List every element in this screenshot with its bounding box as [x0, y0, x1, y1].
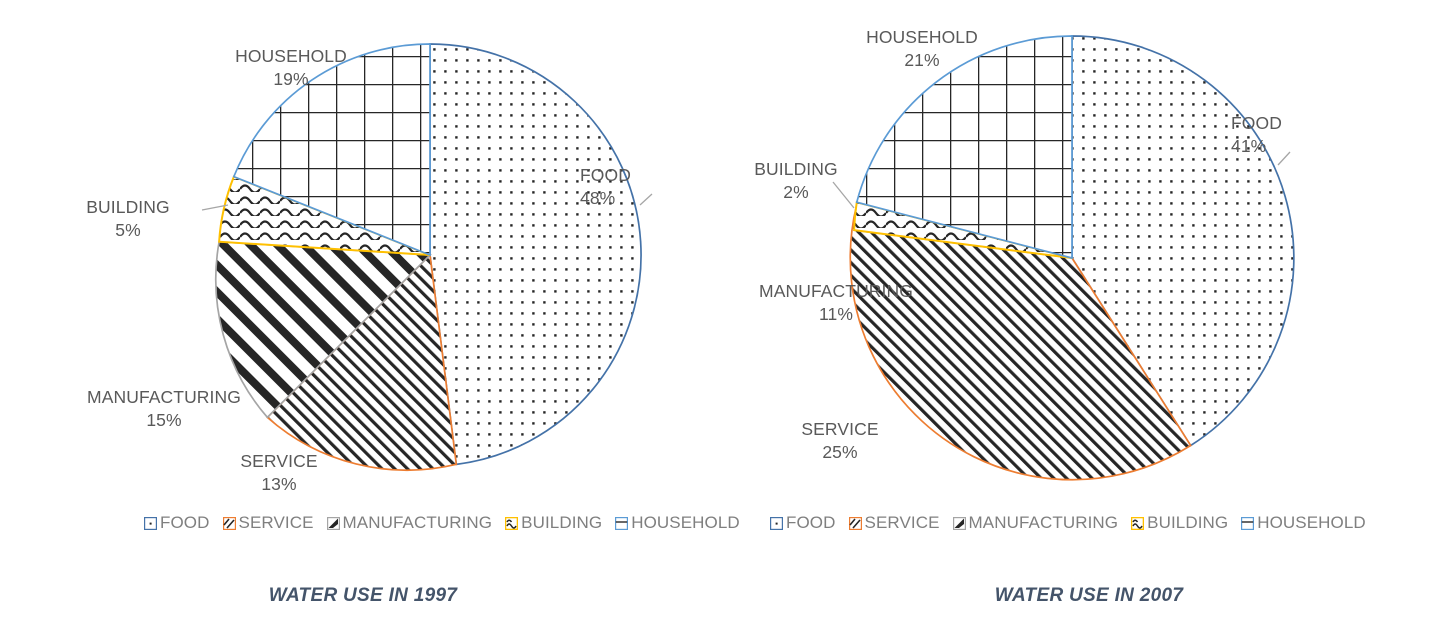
data-label-household: HOUSEHOLD 21% — [802, 26, 1042, 72]
legend-2007: FOOD SERVICE MANUFACTURING — [770, 513, 1366, 533]
legend-item-manufacturing[interactable]: MANUFACTURING — [327, 513, 493, 533]
data-label-household-name: HOUSEHOLD — [235, 46, 347, 66]
legend-label-service: SERVICE — [239, 513, 314, 533]
legend-item-food[interactable]: FOOD — [144, 513, 210, 533]
data-label-food-name: FOOD — [580, 165, 631, 185]
data-label-building: BUILDING 2% — [716, 158, 876, 204]
data-label-household: HOUSEHOLD 19% — [176, 45, 406, 91]
data-label-household-name: HOUSEHOLD — [866, 27, 978, 47]
data-label-manufacturing-name: MANUFACTURING — [759, 281, 913, 301]
wide-stripes-swatch-icon — [953, 517, 966, 530]
fine-stripes-swatch-icon — [849, 517, 862, 530]
data-label-manufacturing: MANUFACTURING 11% — [726, 280, 946, 326]
legend-label-household: HOUSEHOLD — [631, 513, 740, 533]
legend-item-manufacturing[interactable]: MANUFACTURING — [953, 513, 1119, 533]
legend-item-building[interactable]: BUILDING — [505, 513, 602, 533]
legend-label-food: FOOD — [160, 513, 210, 533]
wavy-swatch-icon — [1131, 517, 1144, 530]
data-label-food-pct: 41% — [1231, 135, 1401, 158]
legend-1997: FOOD SERVICE MANUFACTURING — [144, 513, 740, 533]
data-label-household-pct: 21% — [802, 49, 1042, 72]
data-label-building-pct: 5% — [48, 219, 208, 242]
legend-label-service: SERVICE — [865, 513, 940, 533]
data-label-building-name: BUILDING — [86, 197, 169, 217]
legend-item-service[interactable]: SERVICE — [223, 513, 314, 533]
data-label-building-pct: 2% — [716, 181, 876, 204]
chart-title-1997: WATER USE IN 1997 — [0, 585, 726, 607]
data-label-household-pct: 19% — [176, 68, 406, 91]
legend-item-household[interactable]: HOUSEHOLD — [615, 513, 740, 533]
legend-label-building: BUILDING — [1147, 513, 1228, 533]
legend-label-household: HOUSEHOLD — [1257, 513, 1366, 533]
legend-item-household[interactable]: HOUSEHOLD — [1241, 513, 1366, 533]
legend-item-food[interactable]: FOOD — [770, 513, 836, 533]
data-label-manufacturing-pct: 11% — [726, 303, 946, 326]
dots-swatch-icon — [770, 517, 783, 530]
wavy-swatch-icon — [505, 517, 518, 530]
legend-label-manufacturing: MANUFACTURING — [969, 513, 1119, 533]
fine-stripes-swatch-icon — [223, 517, 236, 530]
legend-label-manufacturing: MANUFACTURING — [343, 513, 493, 533]
legend-label-food: FOOD — [786, 513, 836, 533]
chart-title-2007: WATER USE IN 2007 — [726, 585, 1452, 607]
data-label-manufacturing-name: MANUFACTURING — [87, 387, 241, 407]
grid-swatch-icon — [1241, 517, 1254, 530]
chart-panel-1997: HOUSEHOLD 19% FOOD 48% BUILDING 5% MANUF… — [0, 0, 726, 643]
data-label-food-name: FOOD — [1231, 113, 1282, 133]
dots-swatch-icon — [144, 517, 157, 530]
data-label-manufacturing-pct: 15% — [54, 409, 274, 432]
legend-item-building[interactable]: BUILDING — [1131, 513, 1228, 533]
chart-panel-2007: HOUSEHOLD 21% FOOD 41% BUILDING 2% MANUF… — [726, 0, 1452, 643]
legend-item-service[interactable]: SERVICE — [849, 513, 940, 533]
data-label-building: BUILDING 5% — [48, 196, 208, 242]
pie-slice-food[interactable] — [430, 44, 641, 464]
legend-label-building: BUILDING — [521, 513, 602, 533]
data-label-food: FOOD 41% — [1231, 112, 1401, 158]
data-label-service: SERVICE 13% — [196, 450, 362, 496]
data-label-service-name: SERVICE — [240, 451, 317, 471]
water-use-pie-chart-figure: HOUSEHOLD 19% FOOD 48% BUILDING 5% MANUF… — [0, 0, 1452, 643]
data-label-building-name: BUILDING — [754, 159, 837, 179]
data-label-service-pct: 13% — [196, 473, 362, 496]
data-label-service-name: SERVICE — [801, 419, 878, 439]
grid-swatch-icon — [615, 517, 628, 530]
data-label-manufacturing: MANUFACTURING 15% — [54, 386, 274, 432]
wide-stripes-swatch-icon — [327, 517, 340, 530]
data-label-service: SERVICE 25% — [760, 418, 920, 464]
data-label-service-pct: 25% — [760, 441, 920, 464]
